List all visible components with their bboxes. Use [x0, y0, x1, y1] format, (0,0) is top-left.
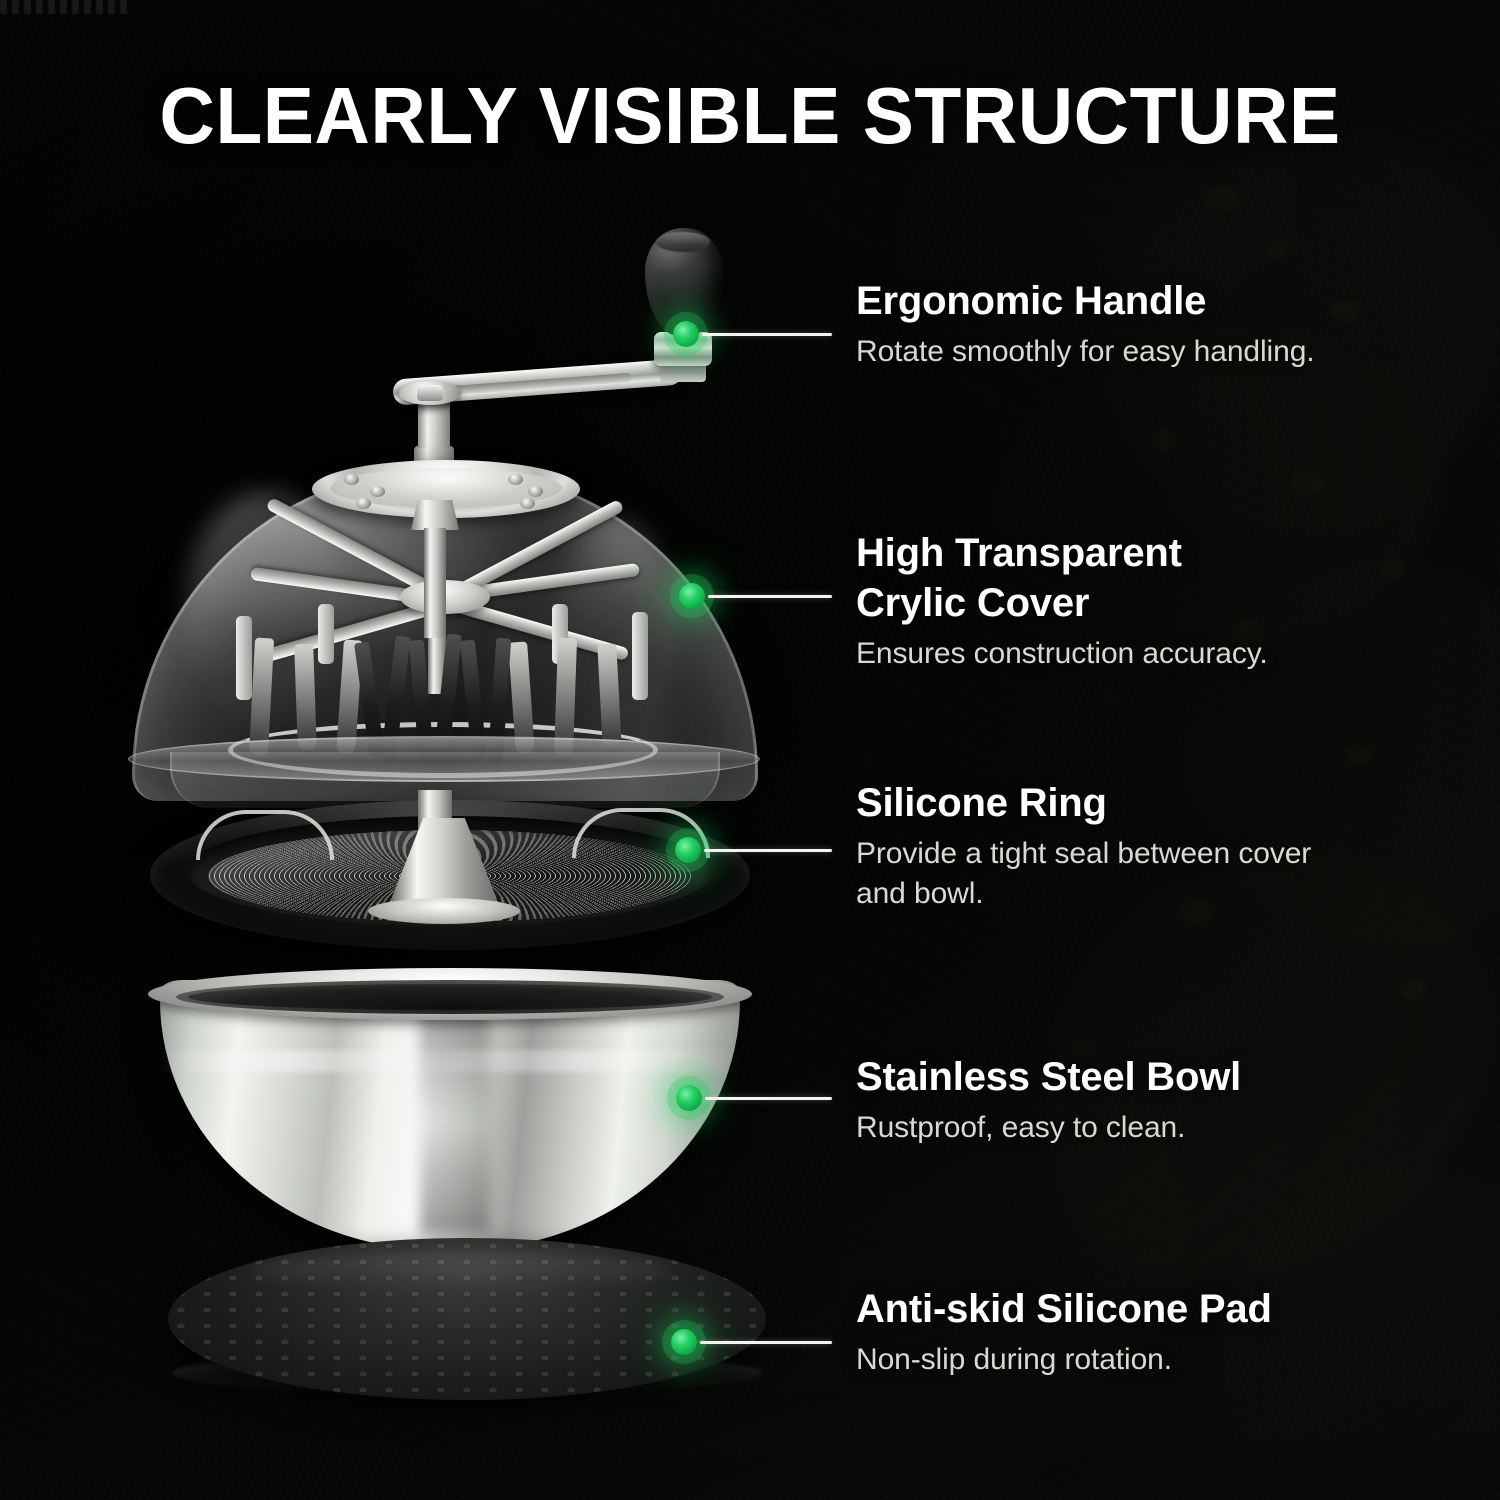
callout-acrylic-cover: High Transparent Crylic Cover Ensures co… — [856, 528, 1456, 674]
callout-description: Rotate smoothly for easy handling. — [856, 332, 1456, 372]
plate-screw — [528, 486, 543, 497]
callout-title: Stainless Steel Bowl — [856, 1052, 1476, 1102]
dome-bottom-lip — [128, 736, 760, 782]
rotor-blade — [294, 644, 317, 751]
marker-dot-silicone-ring[interactable] — [675, 837, 701, 863]
rotor-rim-bar — [318, 604, 334, 664]
brand-logo-emboss — [0, 0, 132, 14]
cover-hub-cone — [411, 500, 459, 530]
connector-line-acrylic-cover — [708, 595, 832, 598]
callout-description: Rustproof, easy to clean. — [856, 1108, 1476, 1148]
rotor-rim-bar — [632, 612, 648, 700]
cover-drive-shaft — [424, 528, 446, 638]
callout-description: Provide a tight seal between cover and b… — [856, 834, 1476, 914]
ring-center-cone-base — [368, 898, 520, 924]
bowl-interior-deep — [188, 984, 712, 1010]
callout-title: Ergonomic Handle — [856, 276, 1456, 326]
plate-screw — [356, 498, 371, 509]
connector-line-silicone-pad — [700, 1341, 832, 1344]
marker-dot-stainless-bowl[interactable] — [676, 1085, 702, 1111]
page-title: CLEARLY VISIBLE STRUCTURE — [30, 70, 1470, 162]
callout-description: Ensures construction accuracy. — [856, 634, 1456, 674]
connector-line-ergonomic-handle — [702, 333, 832, 336]
callout-description: Non-slip during rotation. — [856, 1340, 1476, 1380]
bowl-shadow-streak — [420, 984, 490, 1234]
callout-title: Silicone Ring — [856, 778, 1476, 828]
handle-knob-highlight — [656, 232, 710, 252]
bowl-highlight-band — [160, 1050, 740, 1072]
callout-stainless-bowl: Stainless Steel Bowl Rustproof, easy to … — [856, 1052, 1476, 1148]
rotor-rim-bar — [236, 616, 252, 700]
callout-ergonomic-handle: Ergonomic Handle Rotate smoothly for eas… — [856, 276, 1456, 372]
callout-silicone-pad: Anti-skid Silicone Pad Non-slip during r… — [856, 1284, 1476, 1380]
connector-line-stainless-bowl — [705, 1097, 832, 1100]
marker-dot-ergonomic-handle[interactable] — [673, 321, 699, 347]
infographic-canvas: CLEARLY VISIBLE STRUCTURE — [0, 0, 1500, 1500]
callout-title: High Transparent Crylic Cover — [856, 528, 1456, 628]
plate-screw — [370, 486, 385, 497]
marker-dot-silicone-pad[interactable] — [671, 1329, 697, 1355]
crank-post-upper — [418, 398, 450, 448]
crank-pivot-bolt — [417, 385, 443, 401]
callout-title: Anti-skid Silicone Pad — [856, 1284, 1476, 1334]
connector-line-silicone-ring — [704, 849, 832, 852]
callout-silicone-ring: Silicone Ring Provide a tight seal betwe… — [856, 778, 1476, 914]
plate-screw — [520, 498, 535, 509]
marker-dot-acrylic-cover[interactable] — [679, 583, 705, 609]
silicone-pad-highlight — [250, 1252, 670, 1292]
plate-screw — [508, 474, 523, 485]
plate-screw — [344, 474, 359, 485]
